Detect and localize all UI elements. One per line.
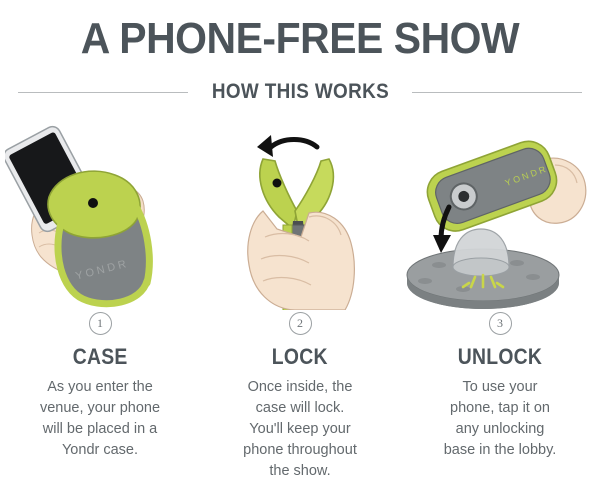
divider-line-left	[18, 92, 188, 93]
step-line: phone, tap it on	[408, 398, 593, 419]
step-line: any unlocking	[408, 419, 593, 440]
subtitle-row: HOW THIS WORKS	[0, 80, 600, 104]
step-label-lock: LOCK	[272, 344, 328, 370]
illustration-unlock: YONDR	[405, 125, 595, 310]
lock-pin-icon	[273, 179, 282, 188]
step-line: Yondr case.	[8, 440, 193, 461]
step-column-unlock: YONDR	[400, 125, 600, 482]
infographic-page: A PHONE-FREE SHOW HOW THIS WORKS	[0, 0, 600, 499]
step-line: phone throughout	[208, 440, 393, 461]
step-badge-1: 1	[89, 312, 112, 335]
step-line: You'll keep your	[208, 419, 393, 440]
step-column-case: YONDR 1 CASE As you enter the venue, you…	[0, 125, 200, 482]
step-description-case: As you enter the venue, your phone will …	[8, 377, 193, 461]
rotate-arrow-icon	[257, 135, 317, 157]
step-line: the show.	[208, 461, 393, 482]
step-line: will be placed in a	[8, 419, 193, 440]
step-line: venue, your phone	[8, 398, 193, 419]
step-line: base in the lobby.	[408, 440, 593, 461]
steps-container: YONDR 1 CASE As you enter the venue, you…	[0, 125, 600, 482]
step-label-unlock: UNLOCK	[458, 344, 542, 370]
step-line: case will lock.	[208, 398, 393, 419]
subtitle: HOW THIS WORKS	[211, 80, 388, 104]
step-badge-2: 2	[289, 312, 312, 335]
lock-pin-icon	[88, 198, 98, 208]
step-column-lock: 2 LOCK Once inside, the case will lock. …	[200, 125, 400, 482]
step-description-lock: Once inside, the case will lock. You'll …	[208, 377, 393, 482]
page-title: A PHONE-FREE SHOW	[21, 14, 579, 64]
step-description-unlock: To use your phone, tap it on any unlocki…	[408, 377, 593, 461]
step-line: As you enter the	[8, 377, 193, 398]
step-line: Once inside, the	[208, 377, 393, 398]
step-badge-3: 3	[489, 312, 512, 335]
step-label-case: CASE	[73, 344, 128, 370]
illustration-case: YONDR	[5, 125, 195, 310]
unlocking-base	[407, 229, 559, 309]
divider-line-right	[412, 92, 582, 93]
step-line: To use your	[408, 377, 593, 398]
illustration-lock	[205, 125, 395, 310]
